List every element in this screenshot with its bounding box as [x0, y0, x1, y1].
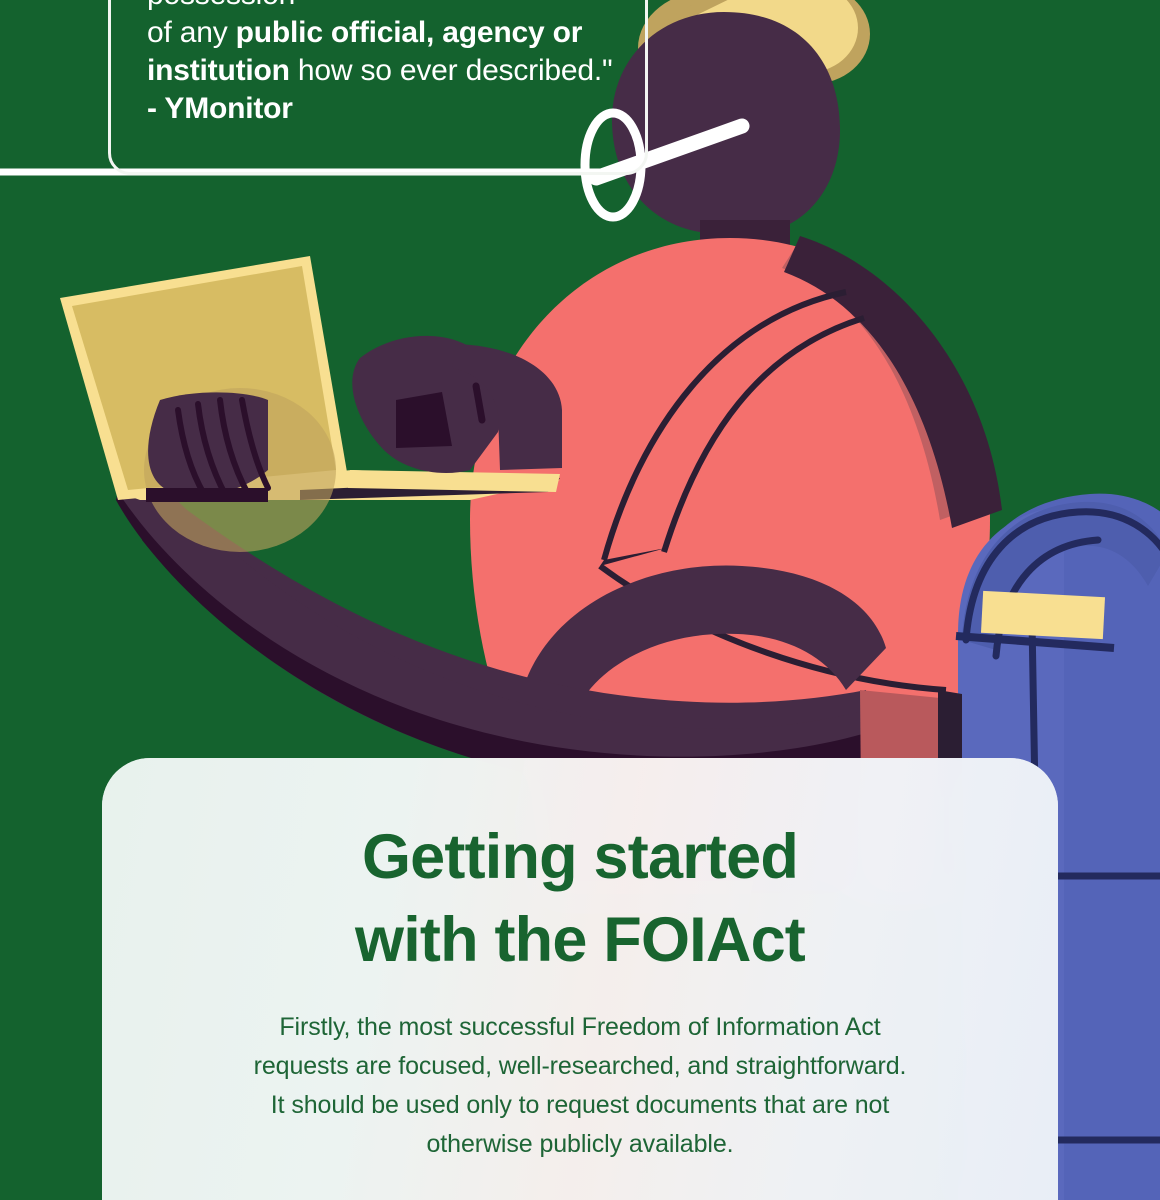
content-card: Getting started with the FOIAct Firstly,… [102, 758, 1058, 1200]
card-body-line-4: otherwise publicly available. [427, 1130, 734, 1158]
backpack-tag [981, 591, 1105, 639]
card-body-line-1: Firstly, the most successful Freedom of … [279, 1013, 880, 1041]
page-title: Getting started with the FOIAct [172, 816, 988, 982]
card-body-line-2: requests are focused, well-researched, a… [254, 1052, 907, 1080]
card-body-text: Firstly, the most successful Freedom of … [210, 1008, 950, 1164]
page-title-line-2: with the FOIAct [355, 905, 805, 975]
infographic-canvas: or not contained in any written form, wh… [0, 0, 1160, 1200]
card-content: Getting started with the FOIAct Firstly,… [102, 758, 1058, 1200]
left-hand [144, 388, 336, 552]
card-body-line-3: It should be used only to request docume… [271, 1091, 889, 1119]
page-title-line-1: Getting started [362, 822, 798, 892]
